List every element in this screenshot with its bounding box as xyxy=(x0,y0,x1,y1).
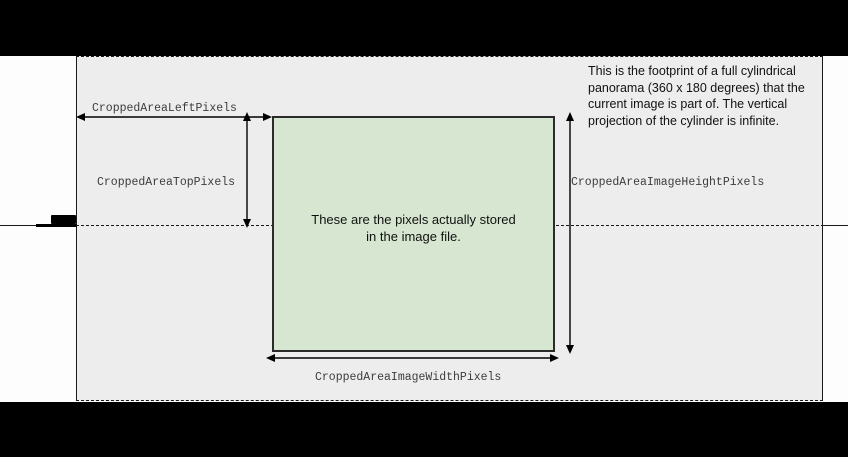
panorama-description-note: This is the footprint of a full cylindri… xyxy=(588,63,826,129)
cropped-area-image-width-pixels-arrow xyxy=(266,351,559,367)
diagram-canvas: These are the pixels actually stored in … xyxy=(0,0,848,457)
horizon-line-right xyxy=(823,225,848,226)
cropped-area-top-pixels-label: CroppedAreaTopPixels xyxy=(97,176,235,189)
stored-image-label: These are the pixels actually stored in … xyxy=(274,211,553,245)
stored-image-box: These are the pixels actually stored in … xyxy=(272,116,555,352)
horizon-line-left-thick-stub xyxy=(36,224,77,227)
horizon-marker-block xyxy=(51,215,76,224)
cropped-area-left-pixels-label: CroppedAreaLeftPixels xyxy=(92,102,237,115)
cropped-area-image-width-pixels-label: CroppedAreaImageWidthPixels xyxy=(315,371,501,384)
cropped-area-image-height-pixels-label: CroppedAreaImageHeightPixels xyxy=(571,176,764,189)
cropped-area-top-pixels-arrow xyxy=(240,112,256,228)
cropped-area-image-height-pixels-arrow xyxy=(563,112,579,354)
